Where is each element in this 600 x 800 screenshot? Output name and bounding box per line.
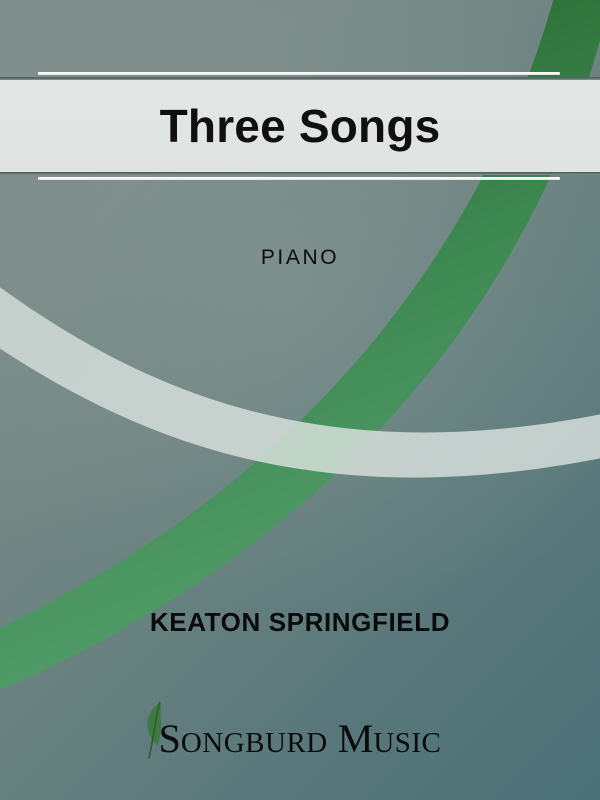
- publisher-initial-m: M: [338, 716, 374, 761]
- publisher-word-two: USIC: [373, 727, 441, 759]
- banner-rule-bottom: [0, 172, 600, 175]
- publisher-spacer: [328, 716, 338, 761]
- banner-hairline-top: [38, 72, 560, 75]
- publisher-wordmark: SONGBURD MUSIC: [159, 716, 442, 766]
- publisher-initial-s: S: [159, 716, 181, 761]
- publisher-logo: SONGBURD MUSIC: [0, 714, 600, 768]
- banner-rule-top: [0, 77, 600, 80]
- sheet-music-cover: Three Songs PIANO KEATON SPRINGFIELD SON…: [0, 0, 600, 800]
- publisher-word-one: ONGBURD: [181, 727, 328, 759]
- composer-name: KEATON SPRINGFIELD: [0, 607, 600, 638]
- light-swoosh-arc: [0, 280, 600, 478]
- banner-hairline-bottom: [38, 177, 560, 180]
- page-title: Three Songs: [0, 96, 600, 156]
- instrument-label: PIANO: [0, 246, 600, 270]
